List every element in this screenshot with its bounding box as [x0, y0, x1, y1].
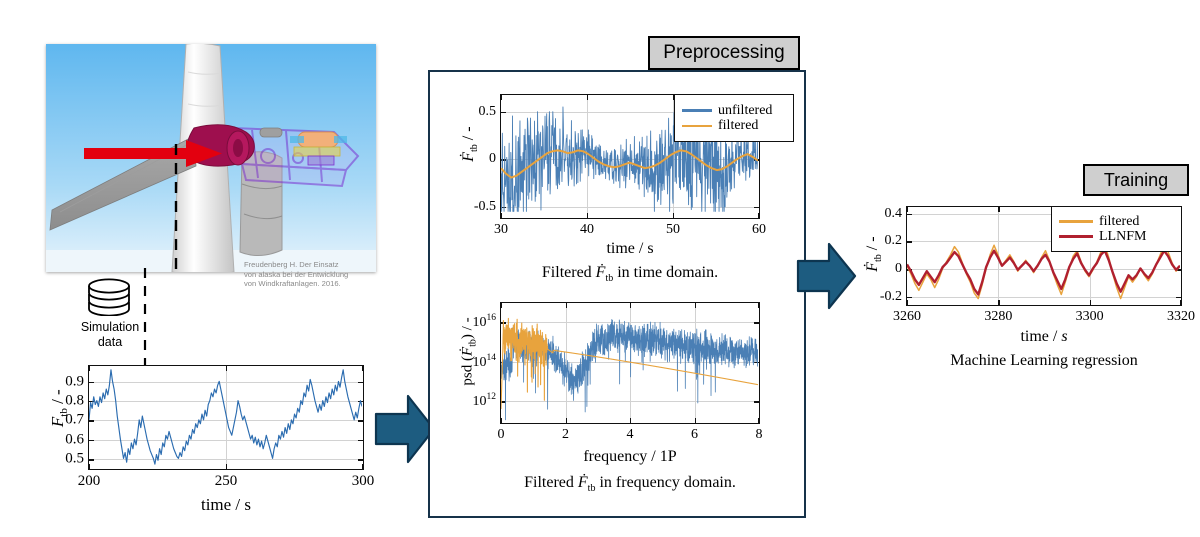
y-tick: -0.2 — [880, 289, 902, 305]
y-tick: 0.6 — [65, 431, 84, 448]
axis-label-x: frequency / 1P — [583, 448, 676, 466]
x-tick: 50 — [666, 222, 680, 238]
y-tick: 0.4 — [885, 206, 903, 222]
turbine-model-image — [46, 44, 376, 272]
y-tick: 0.5 — [479, 104, 497, 120]
chart-caption: Filtered Ḟtb in frequency domain. — [524, 474, 736, 494]
stage-label: Training — [1104, 170, 1168, 191]
stage-label: Preprocessing — [663, 42, 784, 64]
x-tick: 3260 — [893, 309, 921, 325]
x-tick: 0 — [498, 427, 505, 443]
axis-label-x: time / s — [201, 495, 251, 515]
axis-label-x: time / s — [606, 240, 653, 258]
y-tick: 0.5 — [65, 451, 84, 468]
legend-label: unfiltered — [718, 103, 772, 118]
legend-entry: unfiltered — [675, 103, 793, 118]
chart-simulation-signal: Ftb / - 0.5 0.6 0.7 0.8 0.9 200 250 300 … — [20, 355, 370, 535]
y-tick: 0.2 — [885, 233, 903, 249]
database-label: Simulation data — [70, 320, 150, 350]
legend-time-domain: unfiltered filtered — [674, 94, 794, 142]
legend-label: filtered — [718, 118, 758, 133]
chart-caption: Machine Learning regression — [950, 352, 1137, 370]
plot-area: 1016 1014 1012 0 2 4 6 8 — [500, 302, 760, 424]
turbine-illustration — [46, 44, 376, 272]
x-tick: 8 — [756, 427, 763, 443]
x-tick: 60 — [752, 222, 766, 238]
y-tick-exponent: 16 — [487, 313, 497, 323]
axis-label-x: time / s — [1020, 328, 1067, 346]
legend-entry: LLNFM — [1052, 229, 1181, 244]
x-tick: 4 — [627, 427, 634, 443]
legend-swatch-filtered — [682, 125, 712, 127]
plot-area: 0.5 0.6 0.7 0.8 0.9 200 250 300 — [88, 365, 364, 470]
chart-ml-regression: Ḟtb / - 0.4 0.2 0 -0.2 3260 3280 3300 33… — [846, 200, 1194, 390]
x-tick: 300 — [352, 473, 375, 490]
x-tick: 3320 — [1167, 309, 1195, 325]
legend-ml-regression: filtered LLNFM — [1051, 206, 1182, 252]
legend-label: LLNFM — [1099, 229, 1146, 244]
chart-caption: Filtered Ḟtb in time domain. — [542, 264, 718, 284]
legend-label: filtered — [1099, 214, 1139, 229]
legend-entry: filtered — [675, 118, 793, 133]
legend-swatch-filtered — [1059, 220, 1093, 222]
flow-arrow-to-preprocessing — [374, 392, 436, 466]
x-tick: 200 — [78, 473, 101, 490]
x-tick: 30 — [494, 222, 508, 238]
x-tick: 2 — [562, 427, 569, 443]
y-tick: 0 — [895, 261, 902, 277]
legend-entry: filtered — [1052, 214, 1181, 229]
x-tick: 3280 — [984, 309, 1012, 325]
legend-swatch-llnfm — [1059, 235, 1093, 238]
y-tick: 0.8 — [65, 393, 84, 410]
chart-filtered-time-domain: Ḟtb / - 0.5 0 -0.5 30 40 50 60 u — [440, 88, 796, 284]
x-tick: 250 — [215, 473, 238, 490]
dashed-reference-line — [138, 268, 152, 366]
axis-label-y: Ḟtb / - — [460, 98, 480, 190]
x-tick: 3300 — [1076, 309, 1104, 325]
series-filtered-psd — [501, 303, 758, 422]
database-icon — [86, 278, 132, 316]
chart-filtered-frequency-domain: psd (Ḟtb) / - 1016 1014 1012 0 2 4 6 8 — [440, 296, 796, 502]
y-tick-exponent: 14 — [487, 353, 497, 363]
y-tick: 1014 — [473, 353, 497, 371]
stage-chip-preprocessing: Preprocessing — [648, 36, 800, 70]
x-tick: 6 — [691, 427, 698, 443]
y-tick: 0 — [489, 151, 496, 167]
y-tick: 1016 — [473, 313, 497, 331]
y-tick: 1012 — [473, 393, 497, 411]
legend-swatch-unfiltered — [682, 109, 712, 111]
x-tick: 40 — [580, 222, 594, 238]
series-simulation-signal — [89, 366, 362, 468]
y-tick: 0.7 — [65, 412, 84, 429]
y-tick: -0.5 — [474, 199, 496, 215]
y-tick: 0.9 — [65, 373, 84, 390]
stage-chip-training: Training — [1083, 164, 1189, 196]
axis-label-y: Ḟtb / - — [864, 208, 884, 300]
image-citation: Freudenberg H. Der Einsatz von alaska be… — [244, 260, 380, 289]
y-tick-exponent: 12 — [487, 393, 497, 403]
